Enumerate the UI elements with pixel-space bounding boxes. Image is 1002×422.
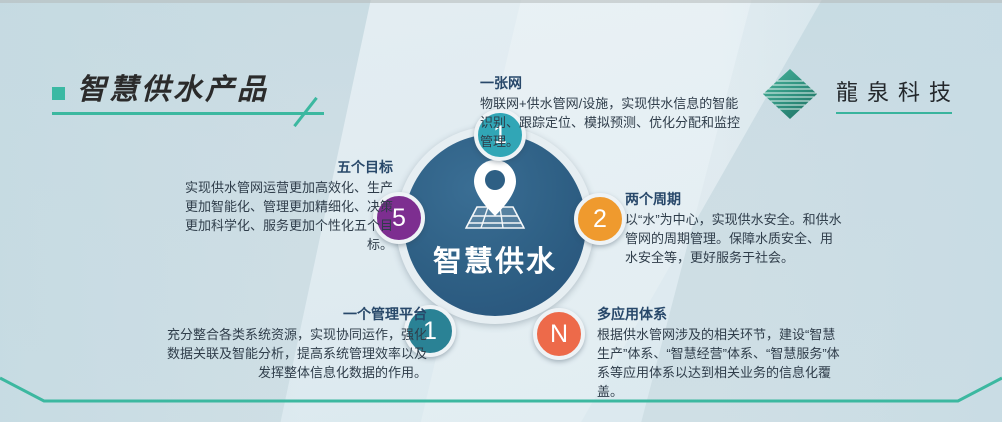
hub-label: 智慧供水: [404, 238, 586, 280]
node-heading: 一个管理平台: [165, 305, 427, 323]
node-heading: 一张网: [480, 74, 742, 92]
node-body: 实现供水管网运营更加高效化、生产更加智能化、管理更加精细化、决策更加科学化、服务…: [175, 179, 393, 254]
brand-underline: [836, 112, 952, 114]
infographic-canvas: 智慧供水产品: [0, 0, 1002, 422]
node-body: 根据供水管网涉及的相关环节，建设“智慧生产”体系、“智慧经营”体系、“智慧服务”…: [597, 326, 847, 401]
square-bullet-icon: [52, 87, 65, 100]
node-body: 以“水”为中心，实现供水安全。和供水管网的周期管理。保障水质安全、用水安全等，更…: [625, 211, 843, 268]
node-heading: 两个周期: [625, 190, 843, 208]
node-one-management-platform: 一个管理平台 充分整合各类系统资源，实现协同运作，强化数据关联及智能分析，提高系…: [165, 305, 427, 383]
node-heading: 多应用体系: [597, 305, 847, 323]
node-multi-application-system: 多应用体系 根据供水管网涉及的相关环节，建设“智慧生产”体系、“智慧经营”体系、…: [597, 305, 847, 402]
node-five-goals: 五个目标 实现供水管网运营更加高效化、生产更加智能化、管理更加精细化、决策更加科…: [175, 158, 393, 255]
node-body: 充分整合各类系统资源，实现协同运作，强化数据关联及智能分析，提高系统管理效率以及…: [165, 326, 427, 383]
brand-name-wrap: 龍泉科技: [836, 75, 960, 114]
hub-circle: 智慧供水: [404, 134, 586, 316]
node-two-cycles: 两个周期 以“水”为中心，实现供水安全。和供水管网的周期管理。保障水质安全、用水…: [625, 190, 843, 268]
brand-name: 龍泉科技: [836, 75, 960, 107]
map-pin-location-icon: [452, 156, 538, 237]
page-title: 智慧供水产品: [77, 66, 269, 108]
diamond-logo-icon: [762, 68, 818, 120]
badge-multi-application-system[interactable]: N: [533, 308, 585, 360]
node-one-network: 一张网 物联网+供水管网/设施，实现供水信息的智能识别、跟踪定位、模拟预测、优化…: [480, 74, 742, 152]
node-body: 物联网+供水管网/设施，实现供水信息的智能识别、跟踪定位、模拟预测、优化分配和监…: [480, 95, 742, 152]
node-heading: 五个目标: [175, 158, 393, 176]
brand-logo-block: 龍泉科技: [762, 68, 960, 120]
title-underline: [52, 112, 324, 115]
background-top-strip: [0, 0, 1002, 3]
page-title-block: 智慧供水产品: [52, 64, 372, 120]
badge-two-cycles[interactable]: 2: [574, 193, 626, 245]
